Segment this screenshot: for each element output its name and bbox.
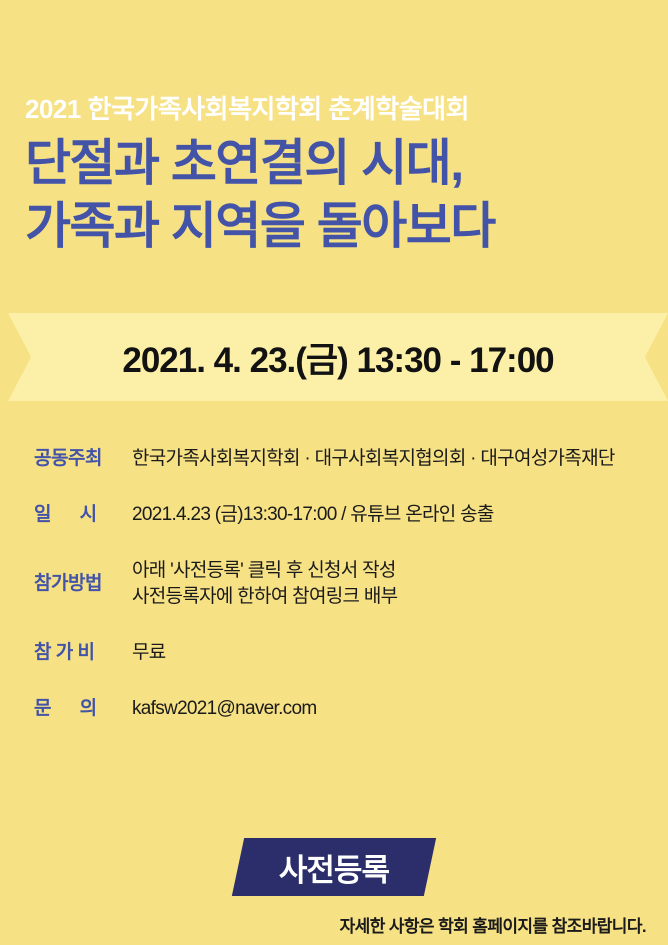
headline-line-2: 가족과 지역을 돌아보다 xyxy=(25,195,643,258)
date-ribbon-text: 2021. 4. 23.(금) 13:30 - 17:00 xyxy=(122,332,553,383)
info-row-datetime: 일 시 2021.4.23 (금)13:30-17:00 / 유튜브 온라인 송… xyxy=(34,502,658,528)
info-label-participation: 참가방법 xyxy=(34,558,132,597)
info-label-fee: 참 가 비 xyxy=(34,640,132,666)
event-kicker: 2021 한국가족사회복지학회 춘계학술대회 xyxy=(25,92,643,126)
poster-canvas: 2021 한국가족사회복지학회 춘계학술대회 단절과 초연결의 시대, 가족과 … xyxy=(0,0,668,945)
footer-note: 자세한 사항은 학회 홈페이지를 참조바랍니다. xyxy=(340,912,646,937)
info-row-contact: 문 의 kafsw2021@naver.com xyxy=(34,696,658,722)
info-value-fee: 무료 xyxy=(132,640,166,666)
info-value-participation: 아래 '사전등록' 클릭 후 신청서 작성 사전등록자에 한하여 참여링크 배부 xyxy=(132,558,397,610)
pre-registration-button[interactable]: 사전등록 xyxy=(232,838,436,896)
info-label-cohosts: 공동주최 xyxy=(34,446,132,472)
info-value-contact-email[interactable]: kafsw2021@naver.com xyxy=(132,696,316,722)
header-block: 2021 한국가족사회복지학회 춘계학술대회 단절과 초연결의 시대, 가족과 … xyxy=(25,92,643,258)
info-value-cohosts: 한국가족사회복지학회 · 대구사회복지협의회 · 대구여성가족재단 xyxy=(132,446,615,472)
info-row-cohosts: 공동주최 한국가족사회복지학회 · 대구사회복지협의회 · 대구여성가족재단 xyxy=(34,446,658,472)
info-label-datetime: 일 시 xyxy=(34,502,132,528)
info-list: 공동주최 한국가족사회복지학회 · 대구사회복지협의회 · 대구여성가족재단 일… xyxy=(34,446,658,722)
register-button-wrap: 사전등록 xyxy=(0,838,668,896)
info-row-participation: 참가방법 아래 '사전등록' 클릭 후 신청서 작성 사전등록자에 한하여 참여… xyxy=(34,558,658,610)
pre-registration-button-label: 사전등록 xyxy=(279,845,389,890)
info-value-datetime: 2021.4.23 (금)13:30-17:00 / 유튜브 온라인 송출 xyxy=(132,502,494,528)
info-label-contact: 문 의 xyxy=(34,696,132,722)
info-row-fee: 참 가 비 무료 xyxy=(34,640,658,666)
date-ribbon: 2021. 4. 23.(금) 13:30 - 17:00 xyxy=(8,313,668,401)
headline-line-1: 단절과 초연결의 시대, xyxy=(25,132,643,195)
